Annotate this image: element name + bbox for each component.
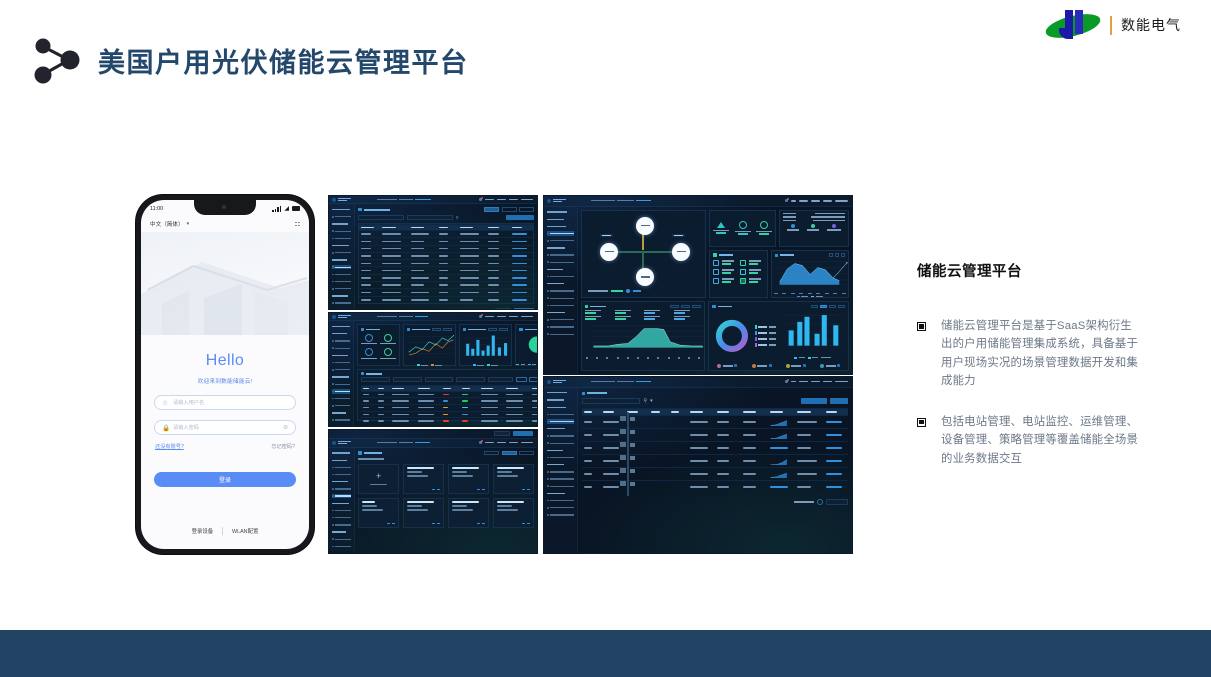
topology-widget[interactable] xyxy=(581,210,707,299)
app-logo xyxy=(329,315,373,319)
list-item[interactable] xyxy=(493,498,534,528)
device-cards-screen[interactable]: + xyxy=(328,429,538,554)
view-tabs[interactable] xyxy=(484,451,534,455)
page-size-select[interactable] xyxy=(826,499,848,505)
device-thumbnail[interactable] xyxy=(627,477,629,496)
add-device-card[interactable]: + xyxy=(358,464,399,494)
hello-heading: Hello xyxy=(141,352,309,370)
list-item: 包括电站管理、电站监控、运维管理、设备管理、策略管理等覆盖储能全场景的业务数据交… xyxy=(917,413,1142,468)
brand-lockup: 数能电气 xyxy=(1045,8,1181,42)
table-row[interactable] xyxy=(359,252,533,259)
square-bullet-icon xyxy=(917,322,926,331)
chevron-down-icon: ▾ xyxy=(187,221,190,227)
distribution-pie-chart[interactable] xyxy=(515,324,538,365)
device-table[interactable] xyxy=(582,408,848,493)
description-panel: 储能云管理平台 储能云管理平台是基于SaaS架构衍生出的户用储能管理集成系统，具… xyxy=(917,260,1142,490)
node-label xyxy=(600,234,613,236)
table-row[interactable] xyxy=(359,230,533,237)
share-network-icon xyxy=(28,34,86,86)
alarm-donut-widget[interactable] xyxy=(712,310,777,362)
table-row[interactable] xyxy=(361,404,538,411)
page-title: 美国户用光伏储能云管理平台 xyxy=(98,41,469,80)
search-icon[interactable]: ⚲ xyxy=(643,398,647,404)
batch-import-button[interactable] xyxy=(801,398,827,404)
eye-off-icon[interactable]: ⊘ xyxy=(283,424,288,431)
app-header xyxy=(329,313,537,321)
table-row[interactable] xyxy=(582,415,848,428)
hero-illustration xyxy=(141,232,309,335)
grid-menu-icon[interactable] xyxy=(295,222,300,227)
device-login-link[interactable]: 登录设备 xyxy=(192,527,214,535)
pagination[interactable] xyxy=(358,308,534,310)
node-label xyxy=(672,234,685,236)
app-header xyxy=(329,196,537,204)
filter-icon[interactable]: ▾ xyxy=(650,398,653,404)
auth-links: 还没有账号? 忘记密码? xyxy=(155,443,295,450)
table-row[interactable] xyxy=(359,266,533,273)
page-title-row: 美国户用光伏储能云管理平台 xyxy=(28,34,469,86)
app-header xyxy=(544,377,852,388)
table-row[interactable] xyxy=(361,411,538,418)
alarm-table-widget[interactable] xyxy=(357,369,538,421)
ios-login-screen: 11:00 ◢ 中文（简体） ▾ xyxy=(136,195,314,554)
load-curve-widget[interactable] xyxy=(581,301,706,371)
header-tools[interactable] xyxy=(479,198,537,201)
pagination[interactable] xyxy=(582,499,848,505)
sidebar-nav[interactable] xyxy=(329,321,354,426)
topology-node[interactable] xyxy=(672,243,690,261)
shuneng-logo-icon xyxy=(1045,8,1101,42)
table-row[interactable] xyxy=(359,288,533,295)
footer-divider xyxy=(222,527,223,535)
filter-bar[interactable]: ⚲ xyxy=(358,215,534,220)
wlan-config-link[interactable]: WLAN配置 xyxy=(232,527,258,535)
summary-kpi-widget[interactable] xyxy=(357,324,400,365)
phone-notch xyxy=(194,200,256,215)
username-field[interactable]: ☃ 请输入用户名 xyxy=(154,395,296,410)
alarm-overview-widget[interactable] xyxy=(708,301,849,371)
slide-root: 数能电气 美国户用光伏储能云管理平台 储能云管理平台 储能云管理平台是基于Saa… xyxy=(0,0,1211,677)
login-button[interactable]: 登录 xyxy=(154,472,296,487)
battery-full-icon xyxy=(292,206,300,211)
header-tools[interactable] xyxy=(785,199,852,202)
header-tools[interactable] xyxy=(479,315,537,318)
bullet-text: 储能云管理平台是基于SaaS架构衍生出的户用储能管理集成系统，具备基于用户现场实… xyxy=(941,317,1142,391)
breadcrumb xyxy=(587,381,785,382)
app-logo xyxy=(329,441,373,445)
app-header xyxy=(329,439,537,448)
list-item[interactable] xyxy=(448,498,489,528)
password-field[interactable]: 🔒 请输入密码 ⊘ xyxy=(154,420,296,435)
phone-footer-links: 登录设备 WLAN配置 xyxy=(141,527,309,535)
overview-dashboard-screen[interactable] xyxy=(328,312,538,427)
brand-divider xyxy=(1110,16,1112,35)
station-list-screen[interactable]: ⚲ xyxy=(328,195,538,310)
cellular-signal-icon xyxy=(272,206,281,212)
square-bullet-icon xyxy=(917,418,926,427)
realtime-kpi-widget[interactable] xyxy=(709,210,776,247)
app-logo xyxy=(544,380,587,384)
table-row[interactable] xyxy=(582,441,848,454)
table-row[interactable] xyxy=(361,397,538,404)
table-row[interactable] xyxy=(361,391,538,398)
list-item[interactable] xyxy=(358,498,399,528)
energy-bar-chart[interactable] xyxy=(459,324,512,365)
kpi-item xyxy=(713,222,729,235)
trend-line-chart[interactable] xyxy=(403,324,456,365)
table-row[interactable] xyxy=(582,467,848,480)
table-row[interactable] xyxy=(582,480,848,493)
table-row[interactable] xyxy=(359,296,533,303)
device-status-widget[interactable] xyxy=(709,250,767,298)
power-curve-widget[interactable] xyxy=(771,250,849,298)
app-logo xyxy=(544,199,587,203)
notification-bell-icon[interactable] xyxy=(479,198,482,201)
table-row[interactable] xyxy=(359,274,533,281)
table-row[interactable] xyxy=(582,454,848,467)
notification-bell-icon[interactable] xyxy=(785,199,788,202)
plant-monitor-dashboard[interactable] xyxy=(543,195,853,375)
device-card-grid[interactable]: + xyxy=(358,464,534,528)
device-management-screen[interactable]: ⚲ ▾ xyxy=(543,376,853,554)
plus-icon: + xyxy=(376,472,381,481)
prev-screen-edge xyxy=(329,430,537,439)
app-header xyxy=(544,196,852,207)
alarm-footer-tags[interactable] xyxy=(709,362,848,370)
register-link[interactable]: 还没有账号? xyxy=(155,443,184,450)
notification-bell-icon[interactable] xyxy=(479,441,482,444)
sidebar-nav[interactable] xyxy=(544,388,578,553)
page-prev-button[interactable] xyxy=(817,499,823,505)
table-header xyxy=(582,408,848,415)
table-row[interactable] xyxy=(359,281,533,288)
table-row[interactable] xyxy=(359,259,533,266)
primary-action-button[interactable] xyxy=(506,215,534,220)
language-selector[interactable]: 中文（简体） ▾ xyxy=(150,220,189,228)
forgot-password-link[interactable]: 忘记密码? xyxy=(271,443,295,450)
list-item[interactable] xyxy=(493,464,534,494)
search-icon[interactable]: ⚲ xyxy=(456,215,459,220)
user-icon: ☃ xyxy=(162,399,168,407)
header-tools[interactable] xyxy=(479,441,537,444)
view-tabs[interactable] xyxy=(484,207,534,211)
sidebar-nav[interactable] xyxy=(329,448,355,551)
header-tools[interactable] xyxy=(785,380,852,383)
table-row[interactable] xyxy=(359,245,533,252)
legend-dot xyxy=(626,289,630,293)
breadcrumb xyxy=(373,442,479,443)
kpi-item xyxy=(756,221,772,236)
add-device-button[interactable] xyxy=(830,398,848,404)
topology-node[interactable] xyxy=(636,268,654,286)
kpi-item xyxy=(735,221,751,236)
app-logo xyxy=(329,198,373,202)
wifi-icon: ◢ xyxy=(284,206,289,212)
search-input[interactable] xyxy=(582,398,641,404)
breadcrumb xyxy=(373,316,479,317)
lock-icon: 🔒 xyxy=(162,424,168,432)
table-row[interactable] xyxy=(359,237,533,244)
welcome-text: 欢迎来到数能储能云! xyxy=(141,376,309,385)
phone-clock: 11:00 xyxy=(150,206,163,212)
brand-name: 数能电气 xyxy=(1121,15,1181,35)
list-item[interactable] xyxy=(403,498,444,528)
panel-title: 储能云管理平台 xyxy=(917,260,1142,281)
footer-bar xyxy=(0,630,1211,677)
breadcrumb xyxy=(587,200,785,201)
topology-node[interactable] xyxy=(600,243,618,261)
phone-top-row: 中文（简体） ▾ xyxy=(141,217,309,228)
sidebar-nav[interactable] xyxy=(329,204,355,309)
station-table[interactable] xyxy=(358,223,534,304)
language-label: 中文（简体） xyxy=(150,220,184,228)
list-item[interactable] xyxy=(403,464,444,494)
bullet-text: 包括电站管理、电站监控、运维管理、设备管理、策略管理等覆盖储能全场景的业务数据交… xyxy=(941,413,1142,468)
password-placeholder: 请输入密码 xyxy=(173,424,278,431)
alarm-bar-widget[interactable] xyxy=(780,310,845,362)
sidebar-nav[interactable] xyxy=(544,207,578,374)
table-row[interactable] xyxy=(361,417,538,424)
list-item[interactable] xyxy=(448,464,489,494)
list-item: 储能云管理平台是基于SaaS架构衍生出的户用储能管理集成系统，具备基于用户现场实… xyxy=(917,317,1142,391)
breadcrumb xyxy=(373,199,479,200)
station-info-widget[interactable] xyxy=(779,210,849,247)
table-row[interactable] xyxy=(582,428,848,441)
notification-bell-icon[interactable] xyxy=(785,380,788,383)
username-placeholder: 请输入用户名 xyxy=(173,399,288,406)
topology-node[interactable] xyxy=(636,217,654,235)
notification-bell-icon[interactable] xyxy=(479,315,482,318)
